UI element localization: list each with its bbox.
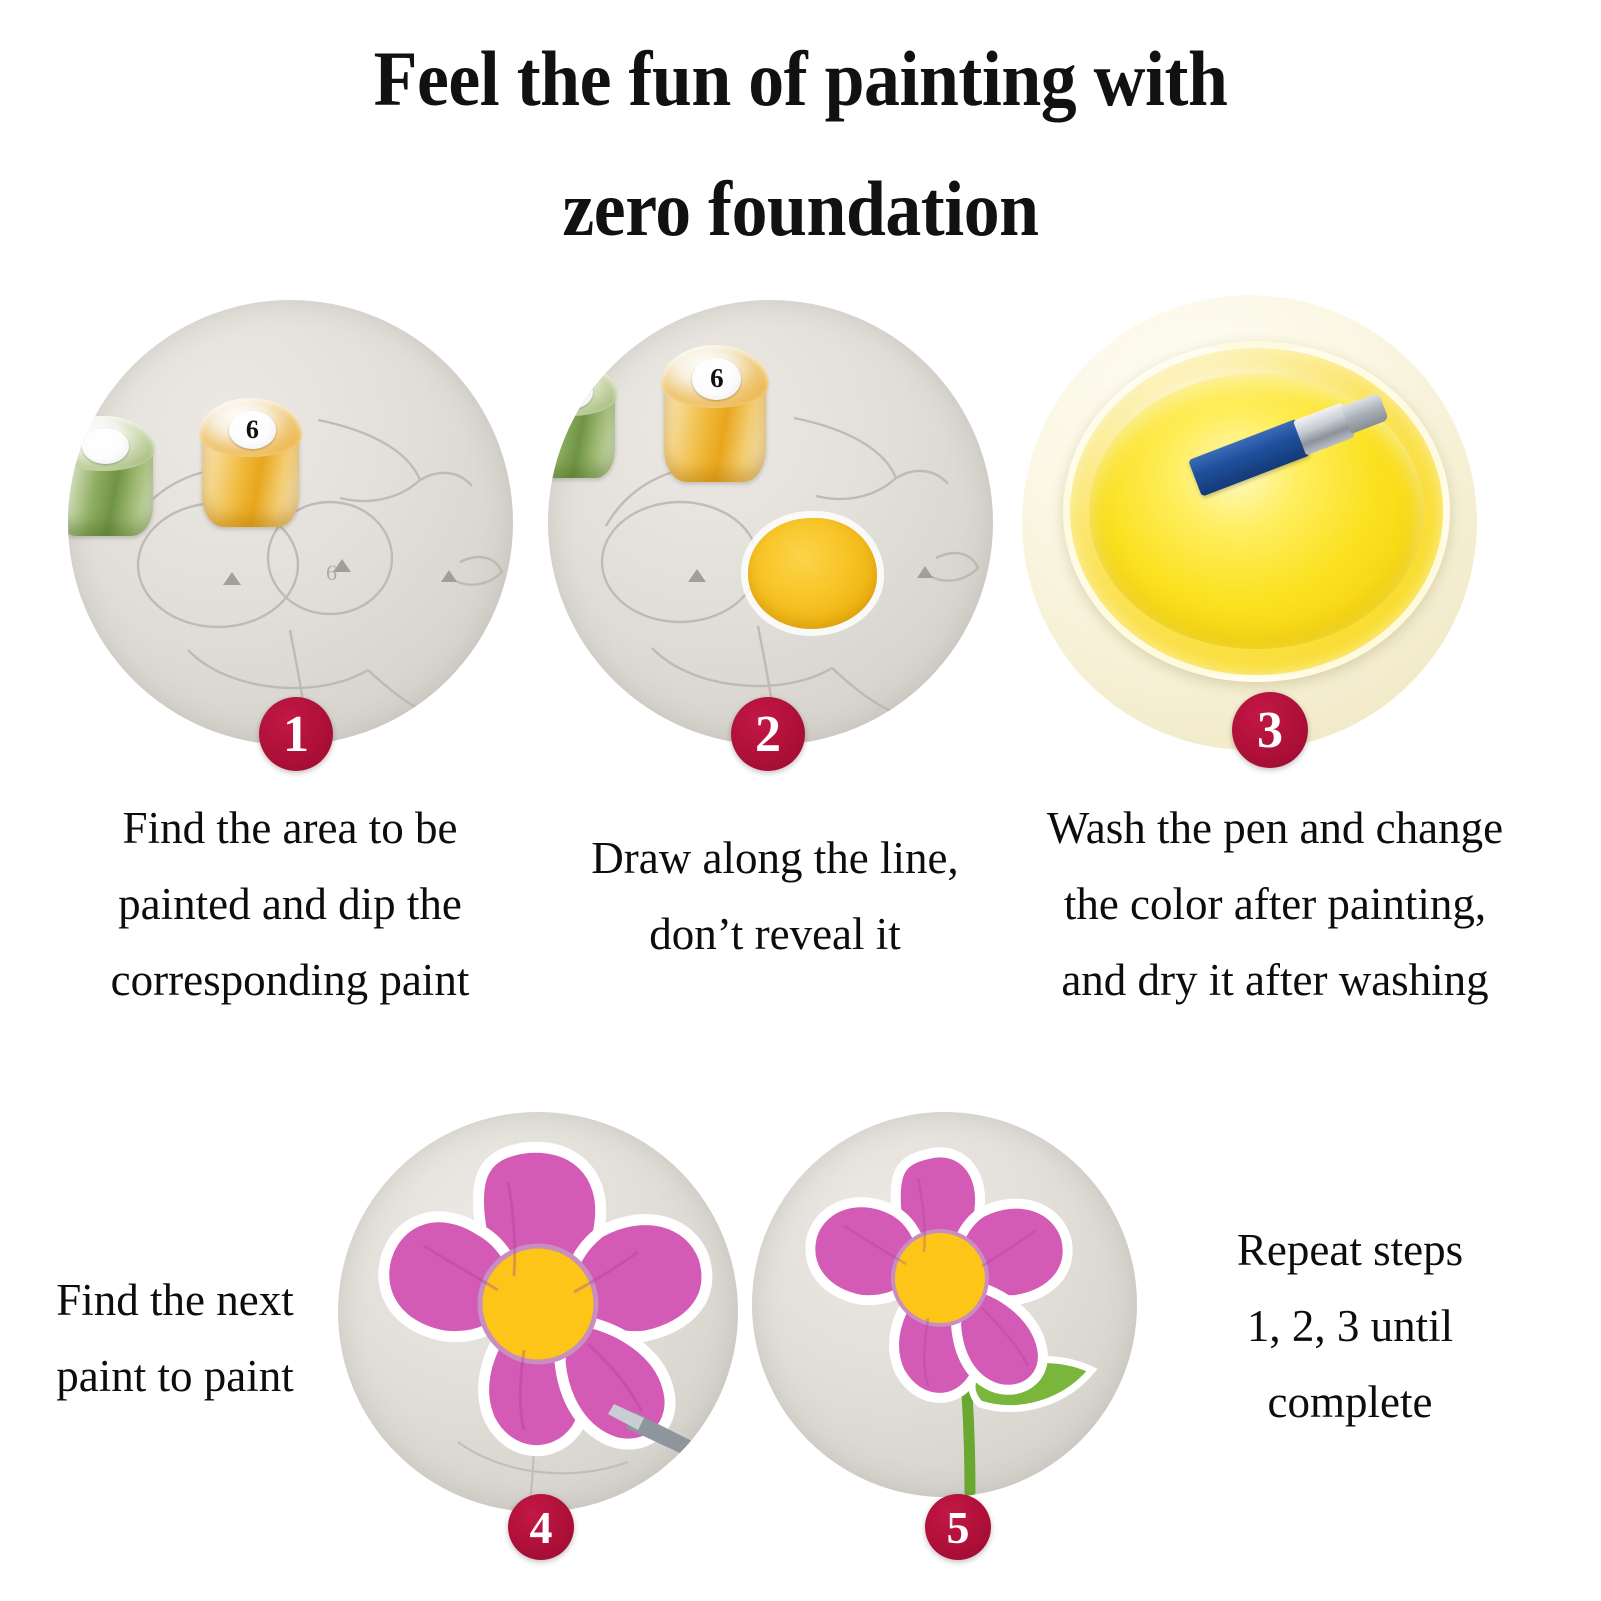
paint-pot-green: [548, 362, 615, 478]
step-1-photo: 6 6: [68, 300, 513, 745]
brush-tip-icon: [338, 1112, 738, 1512]
step-2-caption: Draw along the line, don’t reveal it: [540, 820, 1010, 972]
step-badge-4: 4: [508, 1494, 574, 1560]
paint-pot-yellow: 6: [202, 398, 300, 527]
pot-number-label: 6: [229, 411, 276, 450]
step-3-caption: Wash the pen and change the color after …: [995, 790, 1555, 1018]
step-1-caption: Find the area to be painted and dip the …: [40, 790, 540, 1018]
step-5-photo: [752, 1112, 1137, 1497]
step-badge-2: 2: [731, 697, 805, 771]
step-badge-1: 1: [259, 697, 333, 771]
page-title: Feel the fun of painting with zero found…: [64, 14, 1537, 274]
step-5-caption: Repeat steps 1, 2, 3 until complete: [1160, 1212, 1540, 1440]
title-line-1: Feel the fun of painting with: [374, 35, 1228, 122]
step-badge-3: 3: [1232, 692, 1308, 768]
painted-yellow-center: [748, 518, 877, 629]
glass-bowl-rim: [1063, 341, 1450, 683]
finished-flower-icon: [752, 1112, 1137, 1497]
step-badge-5: 5: [925, 1494, 991, 1560]
step-4-caption: Find the next paint to paint: [10, 1262, 340, 1414]
pot-label: [551, 374, 594, 409]
embossed-flower-outline-icon: [548, 300, 993, 745]
paint-pot-green: [68, 416, 153, 536]
paint-pot-yellow: 6: [664, 345, 766, 483]
step-4-photo: [338, 1112, 738, 1512]
svg-text:6: 6: [326, 560, 337, 585]
pot-label: [82, 428, 129, 464]
pot-number-label: 6: [692, 358, 741, 399]
step-2-photo: 6: [548, 300, 993, 745]
title-line-2: zero foundation: [64, 144, 1537, 274]
step-3-photo: [1022, 295, 1477, 750]
